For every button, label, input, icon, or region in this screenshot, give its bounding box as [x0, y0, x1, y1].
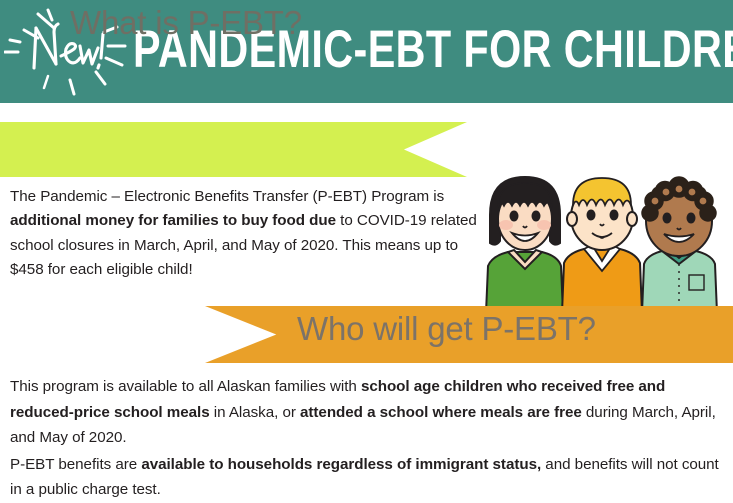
child-one: [486, 177, 563, 311]
section-banner-label-who-will-get-pebt: Who will get P-EBT?: [297, 310, 596, 348]
eligibility-paragraph-2: P-EBT benefits are available to househol…: [10, 452, 722, 503]
intro-text-part1: The Pandemic – Electronic Benefits Trans…: [10, 188, 444, 205]
eligibility-p1-part2: in Alaska, or: [210, 404, 300, 421]
section-banner-what-is-pebt: [0, 122, 467, 177]
section-banner-label-what-is-pebt: What is P-EBT?: [70, 4, 302, 42]
child-two: [562, 178, 642, 311]
eligibility-p1-bold2: attended a school where meals are free: [300, 404, 582, 421]
eligibility-p2-bold1: available to households regardless of im…: [141, 456, 541, 473]
eligibility-paragraph-1: This program is available to all Alaskan…: [10, 374, 722, 451]
intro-paragraph: The Pandemic – Electronic Benefits Trans…: [10, 185, 488, 283]
intro-text-bold1: additional money for families to buy foo…: [10, 212, 336, 229]
child-three: [642, 177, 717, 311]
eligibility-p1-part1: This program is available to all Alaskan…: [10, 378, 361, 395]
eligibility-p2-part1: P-EBT benefits are: [10, 456, 141, 473]
eligibility-text-block: This program is available to all Alaskan…: [10, 374, 722, 503]
three-children-illustration: [484, 163, 733, 311]
